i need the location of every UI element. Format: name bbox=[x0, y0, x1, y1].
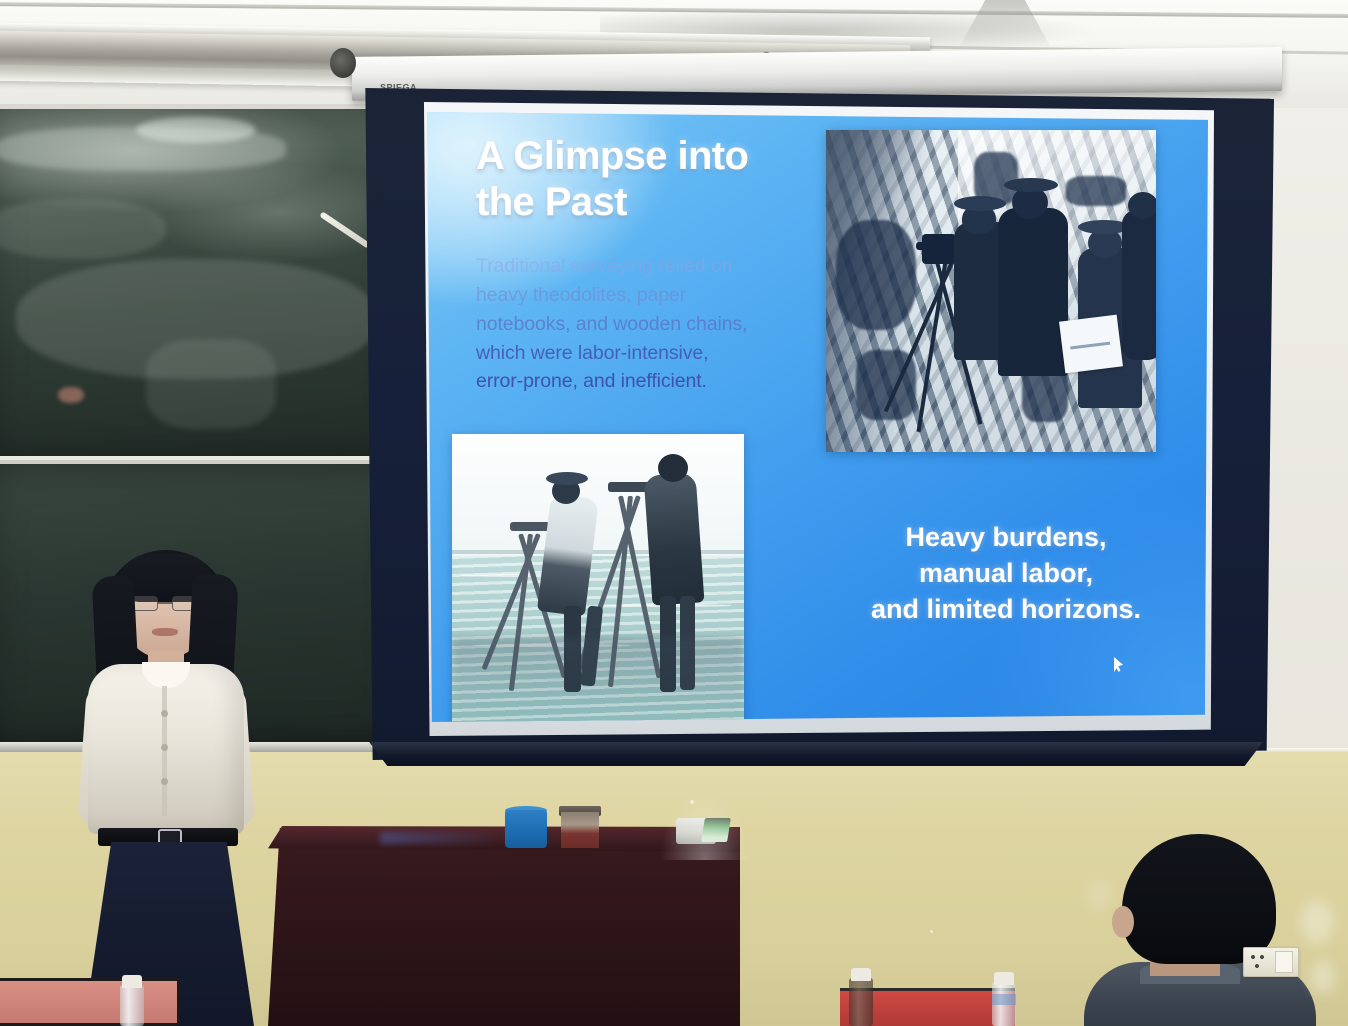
slide-title-line-1: A Glimpse into bbox=[476, 134, 748, 178]
rock-shadow bbox=[836, 220, 916, 330]
chalk-smear bbox=[0, 199, 166, 259]
surveyor-hat bbox=[954, 196, 1006, 211]
mouse-pointer-icon[interactable] bbox=[1114, 657, 1123, 672]
shirt-placket bbox=[162, 686, 167, 816]
lectern-light-reflection bbox=[380, 832, 500, 844]
screen-bottom-weight-bar bbox=[360, 742, 1272, 766]
surveyor-head bbox=[658, 454, 688, 482]
surveyor-figure bbox=[644, 472, 705, 605]
water-reflection bbox=[452, 637, 744, 722]
sky-region bbox=[452, 434, 744, 556]
presentation-slide[interactable]: A Glimpse into the Past Traditional surv… bbox=[424, 112, 1208, 722]
slide-tagline-line-1: Heavy burdens, bbox=[905, 522, 1106, 552]
shirt-button bbox=[161, 778, 168, 785]
slide-body-line-2: heavy theodolites, paper bbox=[476, 281, 792, 310]
slide-body-line-3: notebooks, and wooden chains, bbox=[476, 310, 792, 339]
bottle-label-band bbox=[992, 994, 1016, 1005]
bottle-cap bbox=[851, 968, 871, 981]
dust-speck bbox=[690, 800, 694, 804]
glasses-bridge bbox=[158, 602, 172, 604]
front-desk-left bbox=[0, 978, 180, 1026]
chalk-box[interactable] bbox=[561, 812, 599, 848]
notebook-line bbox=[1070, 342, 1110, 350]
water-bottle-left[interactable] bbox=[120, 985, 144, 1026]
socket-switch[interactable] bbox=[1275, 951, 1293, 973]
slide-body-line-4: which were labor-intensive, bbox=[476, 339, 792, 368]
slide-body-text: Traditional surveying relied on heavy th… bbox=[476, 252, 792, 396]
slide-tagline: Heavy burdens, manual labor, and limited… bbox=[822, 520, 1190, 628]
bottle-cap bbox=[994, 972, 1014, 985]
surveyor-hat bbox=[546, 472, 588, 485]
student-presenter bbox=[62, 540, 292, 1026]
slide-title-line-2: the Past bbox=[476, 180, 627, 224]
surveyors-in-shallow-water-photo bbox=[452, 434, 744, 722]
rock-shadow bbox=[1066, 176, 1126, 206]
tea-bottle-right[interactable] bbox=[849, 978, 873, 1026]
audience-ear bbox=[1112, 906, 1134, 938]
shirt-button bbox=[161, 710, 168, 717]
shirt-button bbox=[161, 744, 168, 751]
surveyor-figure bbox=[998, 208, 1068, 376]
slide-tagline-line-3: and limited horizons. bbox=[871, 594, 1141, 624]
chalk-smear bbox=[136, 117, 256, 143]
classroom-scene: SPIEGA A Glimpse into the Past Tradition… bbox=[0, 0, 1348, 1026]
slide-body-line-5: error-prone, and inefficient. bbox=[476, 367, 792, 396]
chalk-smear bbox=[146, 339, 276, 429]
slide-tagline-line-2: manual labor, bbox=[919, 558, 1093, 588]
socket-holes-icon bbox=[1249, 953, 1267, 971]
slide-body-line-1: Traditional surveying relied on bbox=[476, 252, 792, 281]
chalk-stick bbox=[319, 211, 370, 248]
slide-title: A Glimpse into the Past bbox=[476, 134, 806, 225]
eraser-felt-pad bbox=[701, 818, 731, 842]
chalkboard-upper-panel bbox=[0, 104, 406, 456]
historical-surveyors-rocky-slope-photo bbox=[826, 130, 1156, 452]
dust-speck bbox=[930, 930, 933, 933]
blue-cup[interactable] bbox=[505, 810, 547, 848]
field-notebook bbox=[1059, 315, 1123, 374]
screen-roller-end-cap bbox=[330, 48, 356, 78]
pink-chalk-mark bbox=[58, 387, 84, 403]
wooden-lectern[interactable] bbox=[268, 828, 740, 1026]
bottle-cap bbox=[122, 975, 142, 988]
surveyor-hat bbox=[1004, 178, 1058, 192]
surveyor-figure bbox=[1122, 210, 1156, 360]
lectern-top-surface bbox=[268, 826, 740, 852]
surveyor-head bbox=[1128, 192, 1156, 219]
mouth bbox=[152, 628, 178, 636]
